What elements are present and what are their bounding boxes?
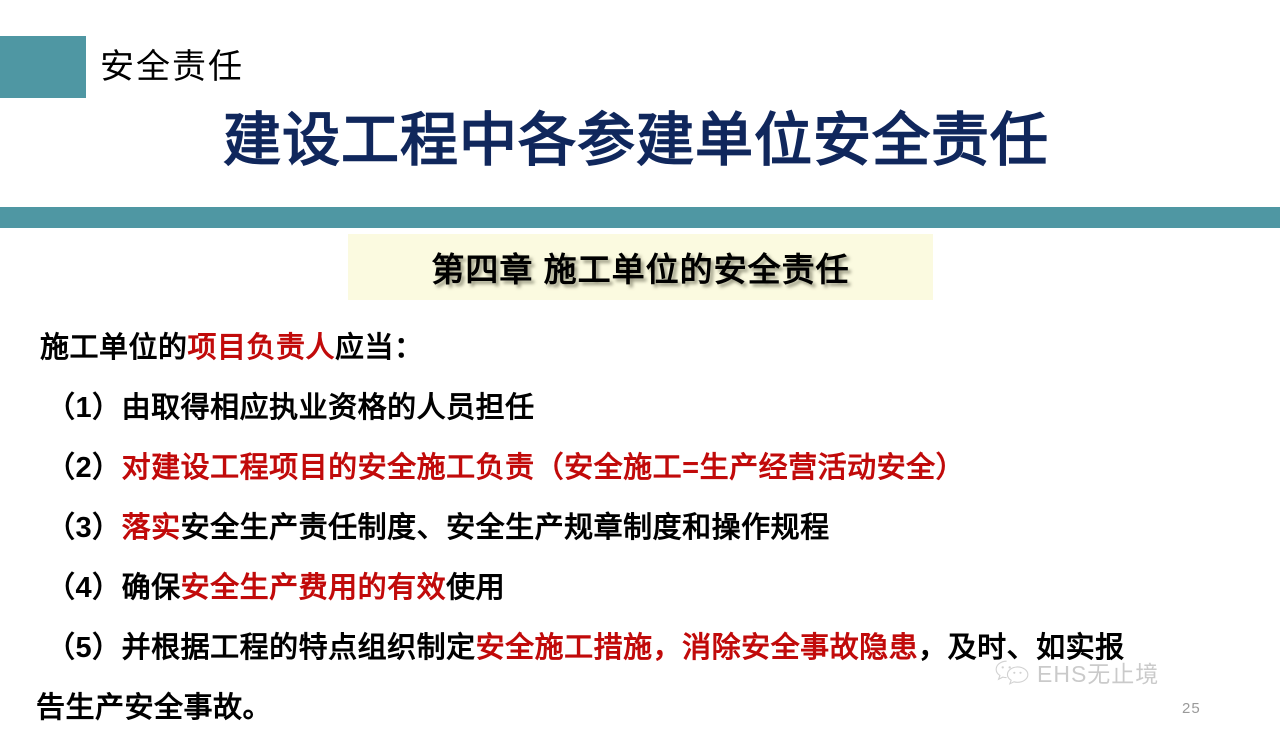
body-line-item-4-number: （4）确保 <box>46 572 181 604</box>
header-accent-square <box>0 36 86 98</box>
body-line-item-3-number: （3） <box>46 512 122 544</box>
body-line-intro-part-3: 应当： <box>335 332 424 364</box>
body-line-item-2: （2）对建设工程项目的安全施工负责（安全施工=生产经营活动安全） <box>0 438 1280 498</box>
page-title: 建设工程中各参建单位安全责任 <box>0 104 1280 178</box>
header-divider-bar <box>0 207 1280 228</box>
body-line-item-3-highlight: 落实 <box>122 512 181 544</box>
section-heading: 第四章 施工单位的安全责任 <box>348 234 933 300</box>
body-line-item-4: （4）确保安全生产费用的有效使用 <box>0 558 1280 618</box>
wechat-icon <box>995 658 1029 686</box>
body-line-item-5-highlight: 安全施工措施，消除安全事故隐患 <box>476 632 919 664</box>
body-line-item-1: （1）由取得相应执业资格的人员担任 <box>0 378 1280 438</box>
body-line-item-5-continued-text: 告生产安全事故。 <box>36 692 272 724</box>
body-line-intro-highlight: 项目负责人 <box>188 332 336 364</box>
watermark: EHS无止境 <box>995 655 1159 689</box>
watermark-label: EHS无止境 <box>1037 655 1159 689</box>
body-line-intro-part-1: 施工单位的 <box>40 332 188 364</box>
body-line-item-4-text: 使用 <box>446 572 505 604</box>
body-line-item-1-text: （1）由取得相应执业资格的人员担任 <box>46 392 535 424</box>
body-line-item-4-highlight: 安全生产费用的有效 <box>181 572 447 604</box>
page-number: 25 <box>1182 700 1201 717</box>
body-line-item-3: （3）落实安全生产责任制度、安全生产规章制度和操作规程 <box>0 498 1280 558</box>
body-line-item-3-text: 安全生产责任制度、安全生产规章制度和操作规程 <box>181 512 830 544</box>
body-line-intro: 施工单位的项目负责人应当： <box>0 318 1280 378</box>
kicker-text: 安全责任 <box>100 40 244 94</box>
body-line-item-2-highlight: 对建设工程项目的安全施工负责（安全施工=生产经营活动安全） <box>122 452 965 484</box>
body-line-item-2-number: （2） <box>46 452 122 484</box>
body-line-item-5-number: （5）并根据工程的特点组织制定 <box>46 632 476 664</box>
